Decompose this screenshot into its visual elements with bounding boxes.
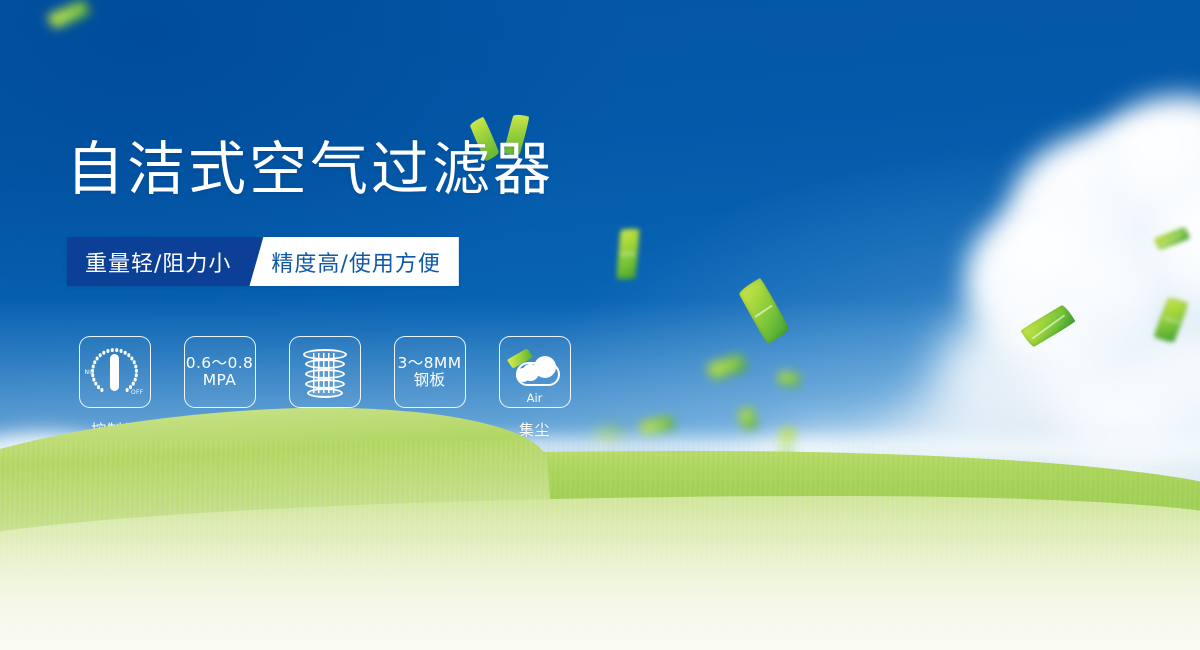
- dial-pointer: [110, 354, 119, 391]
- feature-icon-box-control: NO OFF: [79, 336, 151, 408]
- air-text: Air: [508, 391, 562, 405]
- grass-field: [0, 441, 1200, 650]
- steel-value-line1: 3～8MM: [398, 355, 462, 372]
- air-cloud-icon: Air: [508, 352, 562, 392]
- dial-tick: [134, 378, 137, 381]
- dial-tick: [100, 388, 103, 391]
- feature-icon-box-pressure: 0.6～0.8 MPA: [184, 336, 256, 408]
- cloud-body: [516, 362, 560, 386]
- feature-icon-box-blowback: [289, 336, 361, 408]
- control-dial-icon: NO OFF: [86, 345, 144, 399]
- dial-tick: [115, 349, 118, 352]
- grass-sheen: [0, 536, 1200, 650]
- feature-icon-box-dust: Air: [499, 336, 571, 408]
- subtitle-right: 精度高/使用方便: [249, 237, 458, 286]
- feature-icon-box-steel: 3～8MM 钢板: [394, 336, 466, 408]
- steel-value-line2: 钢板: [414, 372, 446, 389]
- dial-tick: [93, 361, 96, 364]
- dial-tick: [126, 388, 129, 391]
- feature-item-dust[interactable]: Air 集尘: [492, 336, 577, 440]
- dial-tick: [99, 354, 102, 357]
- dial-tick: [102, 351, 105, 354]
- dial-tick: [111, 349, 114, 352]
- dial-tick: [106, 349, 109, 352]
- dial-tick: [135, 374, 138, 377]
- page-title: 自洁式空气过滤器: [66, 140, 554, 198]
- pressure-value-line1: 0.6～0.8: [186, 355, 254, 372]
- dial-tick: [119, 349, 122, 352]
- dial-tick: [92, 365, 95, 368]
- dial-tick: [92, 378, 95, 381]
- dial-tick: [133, 361, 136, 364]
- dial-off-label: OFF: [131, 389, 144, 396]
- hero-banner: 自洁式空气过滤器 重量轻/阻力小 精度高/使用方便 NO OFF 控制仪 0.6…: [0, 0, 1200, 650]
- filter-cartridge-icon: [299, 345, 351, 399]
- pressure-value-line2: MPA: [203, 372, 237, 389]
- dial-tick: [134, 365, 137, 368]
- subtitle-banner: 重量轻/阻力小 精度高/使用方便: [67, 237, 459, 286]
- dial-tick: [132, 382, 135, 385]
- dial-tick: [135, 369, 138, 372]
- dial-tick: [91, 374, 94, 377]
- dial-tick: [96, 357, 99, 360]
- dial-tick: [130, 357, 133, 360]
- subtitle-left: 重量轻/阻力小: [67, 237, 261, 286]
